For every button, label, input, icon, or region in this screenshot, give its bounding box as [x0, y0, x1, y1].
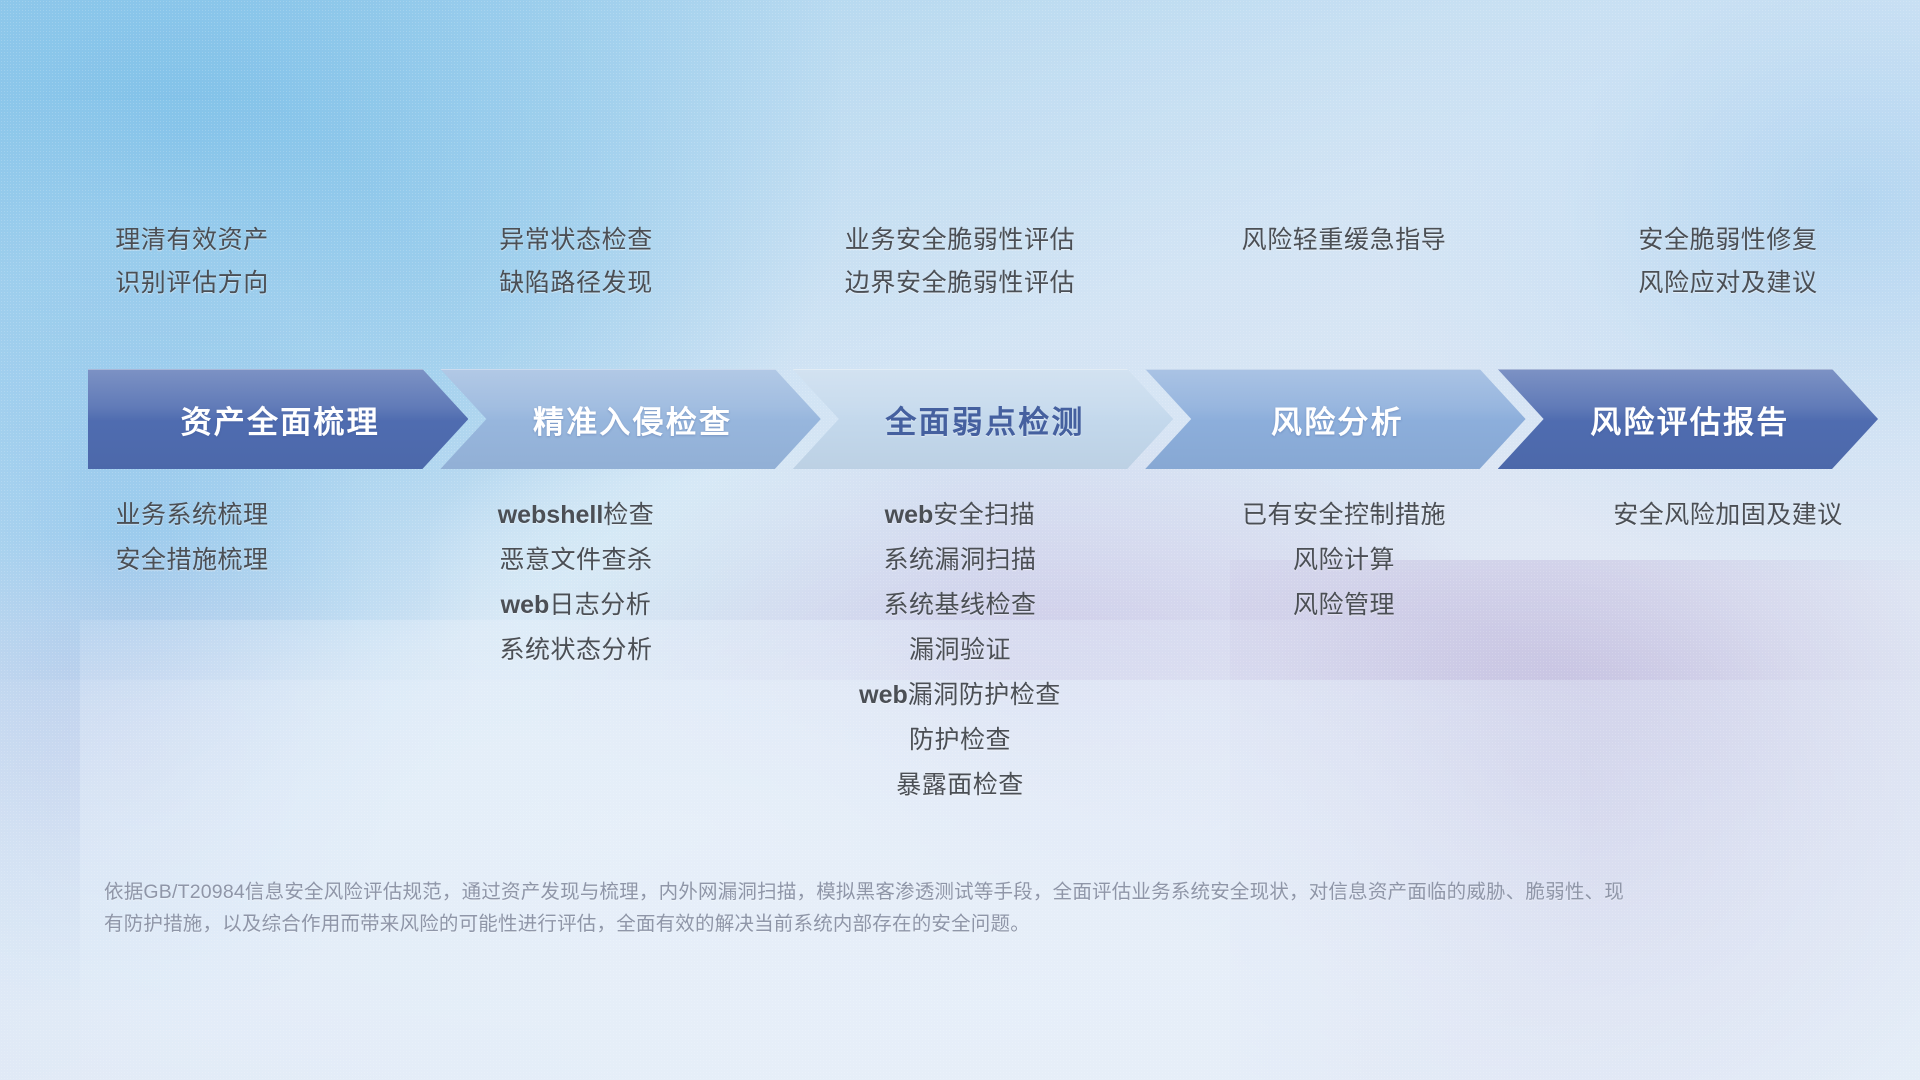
bottom-label-latin: web	[501, 591, 550, 619]
top-label: 识别评估方向	[115, 268, 269, 299]
top-label-column-4: 风险轻重缓急指导	[1152, 225, 1536, 300]
bottom-label: web漏洞防护检查	[859, 680, 1061, 710]
top-label: 异常状态检查	[499, 225, 653, 256]
bottom-label-column-5: 安全风险加固及建议	[1536, 500, 1920, 800]
bottom-label: 业务系统梳理	[115, 500, 268, 530]
bottom-label-latin: webshell	[498, 501, 604, 529]
bottom-label: 暴露面检查	[896, 770, 1024, 800]
stage-arrow-band: 资产全面梳理精准入侵检查全面弱点检测风险分析风险评估报告	[88, 369, 1878, 469]
bottom-label: 安全风险加固及建议	[1613, 500, 1843, 530]
bottom-label: 漏洞验证	[909, 635, 1011, 665]
top-label: 边界安全脆弱性评估	[845, 268, 1075, 299]
bottom-label-column-4: 已有安全控制措施风险计算风险管理	[1152, 500, 1536, 800]
bottom-label: web安全扫描	[885, 500, 1036, 530]
bottom-label-cjk: 检查	[603, 501, 654, 529]
bottom-label: webshell检查	[498, 500, 655, 530]
top-label: 风险轻重缓急指导	[1242, 225, 1447, 256]
top-label-column-1: 理清有效资产识别评估方向	[0, 225, 384, 300]
bottom-label-column-3: web安全扫描系统漏洞扫描系统基线检查漏洞验证web漏洞防护检查防护检查暴露面检…	[768, 500, 1152, 800]
footer-paragraph: 依据GB/T20984信息安全风险评估规范，通过资产发现与梳理，内外网漏洞扫描，…	[104, 877, 1624, 940]
bottom-label: 系统状态分析	[499, 635, 652, 665]
bottom-label: 安全措施梳理	[115, 545, 268, 575]
bottom-label: 风险管理	[1293, 590, 1395, 620]
stage-arrow-label: 风险评估报告	[1586, 397, 1789, 442]
stage-arrow-4[interactable]: 风险分析	[1145, 369, 1525, 469]
bottom-label-latin: web	[885, 501, 934, 529]
bottom-label: 风险计算	[1293, 545, 1395, 575]
bottom-label-cjk: 日志分析	[549, 591, 651, 619]
bottom-label-cjk: 安全扫描	[933, 501, 1035, 529]
top-label: 业务安全脆弱性评估	[845, 225, 1075, 256]
top-label-column-2: 异常状态检查缺陷路径发现	[384, 225, 768, 300]
bottom-label: 系统漏洞扫描	[883, 545, 1036, 575]
stage-arrow-label: 全面弱点检测	[881, 397, 1084, 442]
bottom-label-cjk: 漏洞防护检查	[908, 681, 1061, 709]
bottom-label: 系统基线检查	[883, 590, 1036, 620]
bottom-label-latin: web	[859, 681, 908, 709]
stage-arrow-label: 资产全面梳理	[177, 397, 380, 442]
footer-description: 依据GB/T20984信息安全风险评估规范，通过资产发现与梳理，内外网漏洞扫描，…	[104, 877, 1624, 940]
top-label-column-5: 安全脆弱性修复风险应对及建议	[1536, 225, 1920, 300]
stage-arrow-5[interactable]: 风险评估报告	[1498, 369, 1878, 469]
top-label: 理清有效资产	[115, 225, 269, 256]
stage-arrow-1[interactable]: 资产全面梳理	[88, 369, 468, 469]
top-label-column-3: 业务安全脆弱性评估边界安全脆弱性评估	[768, 225, 1152, 300]
stage-arrow-label: 精准入侵检查	[529, 397, 732, 442]
top-label: 安全脆弱性修复	[1638, 225, 1817, 256]
bottom-label-row: 业务系统梳理安全措施梳理webshell检查恶意文件查杀web日志分析系统状态分…	[0, 500, 1920, 800]
bottom-label-column-2: webshell检查恶意文件查杀web日志分析系统状态分析	[384, 500, 768, 800]
stage-arrow-3[interactable]: 全面弱点检测	[793, 369, 1173, 469]
bottom-label: web日志分析	[501, 590, 652, 620]
stage-arrow-2[interactable]: 精准入侵检查	[440, 369, 820, 469]
bottom-label-column-1: 业务系统梳理安全措施梳理	[0, 500, 384, 800]
top-label: 缺陷路径发现	[499, 268, 653, 299]
top-label-row: 理清有效资产识别评估方向异常状态检查缺陷路径发现业务安全脆弱性评估边界安全脆弱性…	[0, 225, 1920, 300]
bottom-label: 恶意文件查杀	[499, 545, 652, 575]
process-diagram: 理清有效资产识别评估方向异常状态检查缺陷路径发现业务安全脆弱性评估边界安全脆弱性…	[0, 0, 1920, 1080]
top-label: 风险应对及建议	[1638, 268, 1817, 299]
stage-arrow-label: 风险分析	[1267, 397, 1404, 442]
bottom-label: 防护检查	[909, 725, 1011, 755]
bottom-label: 已有安全控制措施	[1242, 500, 1446, 530]
